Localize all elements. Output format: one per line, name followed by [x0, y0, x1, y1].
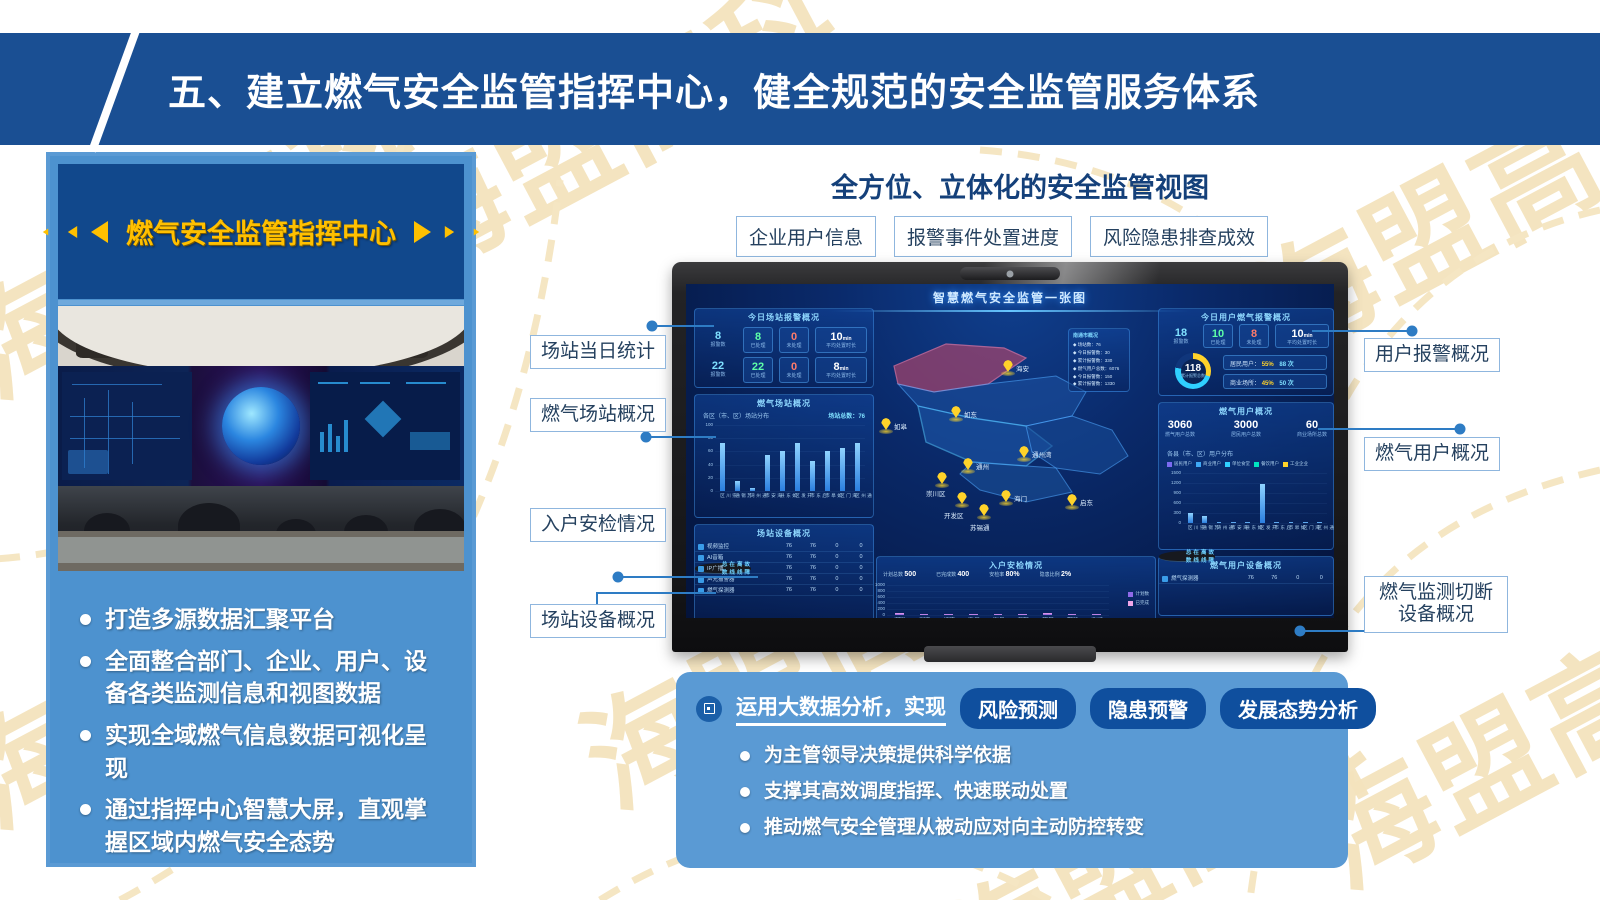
- bullet-dot-icon: [740, 823, 750, 833]
- table-cell: 视频监控: [695, 542, 777, 550]
- tag-enterprise-user-info[interactable]: 企业用户信息: [736, 216, 876, 257]
- chart-bar: [1317, 522, 1322, 523]
- table-cell: 76: [777, 576, 801, 582]
- tag-risk-inspection[interactable]: 风险隐患排查成效: [1090, 216, 1268, 257]
- breakdown-count: 88 次: [1279, 362, 1293, 368]
- gridline: [1183, 473, 1327, 474]
- panel-user-overview: 燃气用户概况 3060燃气用户总数3000居民用户总数60商业场所总数 各县（市…: [1158, 402, 1334, 550]
- list-item: 打造多源数据汇聚平台: [80, 603, 448, 636]
- panel-title: 今日用户燃气报警概况: [1159, 312, 1333, 323]
- kpi-label: 报警数: [701, 372, 735, 379]
- bigdata-bullets: 为主管领导决策提供科学依据 支撑其高效调度指挥、快速联动处置 推动燃气安全管理从…: [696, 743, 1328, 842]
- panel-user-device: 燃气用户设备概况 总数在线离线故障燃气探测器767600: [1158, 556, 1334, 616]
- legend-item: 居民用户: [1167, 461, 1192, 467]
- breakdown-pct: 45%: [1262, 381, 1274, 387]
- stat-label: 计划总数: [883, 572, 903, 578]
- table-cell: 0: [1286, 575, 1310, 581]
- photo-operator-desks: [58, 486, 464, 571]
- bullet-dot-icon: [80, 656, 91, 667]
- gridline: [715, 438, 865, 439]
- command-center-card: 燃气安全监管指挥中心: [46, 152, 476, 867]
- kpi-value: 22: [701, 360, 735, 372]
- panel-map-info: 南通市概况 ◆ 场站数：76◆ 今日报警数：30◆ 累计报警数：330◆ 燃气用…: [1068, 328, 1130, 392]
- chart-bar: [720, 443, 725, 491]
- axis-category-label: 通州区: [988, 617, 1008, 618]
- tag-alarm-progress[interactable]: 报警事件处置进度: [894, 216, 1072, 257]
- list-item: 通过指挥中心智慧大屏，直观掌握区域内燃气安全态势: [80, 793, 448, 858]
- map-info-row: ◆ 燃气用户总数：6076: [1073, 365, 1119, 373]
- triangle-right-icon: [445, 225, 454, 237]
- axis-category-label: 海门区: [1013, 617, 1033, 618]
- stat-value: 3000: [1231, 419, 1261, 431]
- axis-tick: 800: [871, 588, 885, 593]
- chart-legend: 居民用户商业用户单位食堂餐饮用户工业企业: [1167, 461, 1308, 467]
- chart-bar: [944, 614, 952, 615]
- kpi-value: 8: [1240, 328, 1268, 340]
- chart-bar: [1217, 522, 1222, 523]
- legend-label: 商业用户: [1203, 461, 1221, 467]
- wall-data-screen: [310, 372, 460, 480]
- triangle-right-icon: [414, 221, 431, 243]
- table-row: 燃气探测器767600: [1159, 573, 1333, 584]
- axis-category-label: 如皋市: [939, 617, 959, 618]
- list-item: 实现全域燃气信息数据可视化呈现: [80, 719, 448, 784]
- kpi-unit: min: [1304, 333, 1313, 339]
- bullet-dot-icon: [80, 614, 91, 625]
- table-cell: 0: [849, 565, 873, 571]
- table-cell: 0: [849, 587, 873, 593]
- legend-swatch: [1128, 601, 1133, 606]
- axis-tick: 1500: [1167, 470, 1181, 475]
- donut-total-alarms: 118 累计报警总数: [1175, 353, 1211, 389]
- chart-bar: [765, 455, 770, 491]
- gridline: [887, 585, 1109, 586]
- table-cell: 76: [777, 565, 801, 571]
- bullet-text: 全面整合部门、企业、用户、设备各类监测信息和视图数据: [105, 645, 448, 710]
- stat-item: 已完成数 400: [936, 571, 969, 578]
- dashboard-title: 智慧燃气安全监管一张图: [686, 289, 1334, 306]
- panel-title: 燃气场站概况: [695, 398, 873, 409]
- stat-item: 3060燃气用户总数: [1165, 419, 1195, 438]
- axis-tick: 600: [871, 594, 885, 599]
- axis-tick: 1200: [1167, 480, 1181, 485]
- kpi-label: 未处理: [780, 373, 808, 380]
- photo-front-counter: [58, 531, 464, 571]
- map-info-row: ◆ 今日报警数：150: [1073, 373, 1119, 381]
- table-cell: 76: [801, 543, 825, 549]
- axis-tick: 600: [1167, 500, 1181, 505]
- axis-category-label: 开发区: [1037, 617, 1057, 618]
- chart-bar: [1231, 522, 1236, 523]
- chart-bar: [825, 451, 830, 491]
- user-stat-row: 3060燃气用户总数3000居民用户总数60商业场所总数: [1165, 419, 1327, 438]
- axis-tick: 900: [1167, 490, 1181, 495]
- legend-item: 商业用户: [1196, 461, 1221, 467]
- table-station-devices: 总数在线离线故障视频监控767600AI音箱767600IP广播767600声光…: [695, 541, 873, 596]
- panel-title: 燃气用户概况: [1159, 406, 1333, 417]
- axis-tick: 40: [699, 462, 713, 467]
- table-cell: 76: [801, 587, 825, 593]
- section-title: 全方位、立体化的安全监管视图: [790, 166, 1250, 205]
- chart-bar: [1068, 614, 1076, 615]
- table-cell: 0: [825, 565, 849, 571]
- stat-value: 500: [904, 571, 916, 578]
- chart-bar: [780, 451, 785, 491]
- breakdown-pct: 55%: [1262, 362, 1274, 368]
- breakdown-label: 居民用户：: [1230, 362, 1260, 368]
- axis-tick: 400: [871, 600, 885, 605]
- kpi-label: 未处理: [780, 343, 808, 350]
- chart-bar: [895, 613, 903, 615]
- device-icon: [698, 566, 704, 572]
- kpi-value: 8: [744, 331, 772, 343]
- kpi-value: 10: [1204, 328, 1232, 340]
- bullet-text: 实现全域燃气信息数据可视化呈现: [105, 719, 448, 784]
- axis-category-label: 通州湾: [1087, 617, 1107, 618]
- table-cell: 0: [849, 543, 873, 549]
- table-cell: 76: [777, 587, 801, 593]
- gridline: [715, 425, 865, 426]
- kpi-label: 平均处置时长: [1276, 340, 1328, 347]
- stat-value: 400: [958, 571, 970, 578]
- axis-tick: 0: [699, 488, 713, 493]
- chart-bar: [750, 488, 755, 491]
- axis-tick: 60: [699, 448, 713, 453]
- monitor-bezel: 智慧燃气安全监管一张图 今日场站报警概况 8 报警数 8 已处理 0 未处理 1…: [672, 262, 1348, 652]
- panel-title: 今日场站报警概况: [695, 312, 873, 323]
- panel-station-device: 场站设备概况 总数在线离线故障视频监控767600AI音箱767600IP广播7…: [694, 524, 874, 618]
- bullet-dot-icon: [80, 804, 91, 815]
- stat-label: 隐患比例: [1040, 572, 1060, 578]
- axis-category-label: 启东市: [914, 617, 934, 618]
- axis-category-label: 崇川区: [963, 617, 983, 618]
- kpi-value: 0: [780, 361, 808, 373]
- table-cell: 0: [825, 576, 849, 582]
- donut-label: 累计报警总数: [1181, 374, 1205, 378]
- gridline: [1183, 523, 1327, 524]
- bullet-dot-icon: [740, 787, 750, 797]
- legend-swatch: [1167, 462, 1172, 467]
- callout-gas-station-overview[interactable]: 燃气场站概况: [530, 398, 666, 432]
- callout-inhouse-inspection[interactable]: 入户安检情况: [530, 508, 666, 542]
- bullet-text: 推动燃气安全管理从被动应对向主动防控转变: [764, 815, 1144, 842]
- triangle-left-icon: [91, 221, 108, 243]
- kpi-label: 报警数: [1165, 339, 1197, 346]
- map-info-list: ◆ 场站数：76◆ 今日报警数：30◆ 累计报警数：330◆ 燃气用户总数：60…: [1073, 341, 1119, 388]
- monitor-stand: [924, 646, 1096, 662]
- kpi-value: 22: [744, 361, 772, 373]
- map-info-title: 南通市概况: [1073, 332, 1098, 339]
- legend-label: 餐饮用户: [1261, 461, 1279, 467]
- axis-tick: 0: [871, 612, 885, 617]
- gridline: [715, 491, 865, 492]
- photo-video-wall: [58, 366, 464, 486]
- kpi-value: 10: [830, 331, 842, 343]
- list-item: 推动燃气安全管理从被动应对向主动防控转变: [740, 815, 1328, 842]
- kpi-value: 18: [1165, 327, 1197, 339]
- chart-bar: [1303, 522, 1308, 523]
- pill-trend-analysis[interactable]: 发展态势分析: [1220, 688, 1376, 729]
- legend-label: 居民用户: [1174, 461, 1192, 467]
- legend-label: 单位食堂: [1232, 461, 1250, 467]
- axis-tick: 200: [871, 606, 885, 611]
- table-cell: 76: [801, 576, 825, 582]
- chart-bar: [795, 443, 800, 491]
- axis-tick: 20: [699, 475, 713, 480]
- breakdown-label: 商业场所：: [1230, 381, 1260, 387]
- legend-swatch: [1128, 592, 1133, 597]
- device-icon: [1162, 576, 1168, 582]
- panel-title: 场站设备概况: [695, 528, 873, 539]
- chart-bar: [855, 443, 860, 491]
- kpi-unit: min: [843, 336, 852, 342]
- table-header-row: 总数在线离线故障: [1159, 551, 1215, 562]
- kpi-label: 已处理: [744, 343, 772, 350]
- stat-item: 安检率 80%: [989, 571, 1019, 578]
- map-info-row: ◆ 今日报警数：30: [1073, 349, 1119, 357]
- station-total-value: 76: [858, 414, 865, 420]
- chart-bar: [920, 614, 928, 615]
- chart-bar: [1274, 522, 1279, 523]
- dashboard-screen: 智慧燃气安全监管一张图 今日场站报警概况 8 报警数 8 已处理 0 未处理 1…: [686, 284, 1334, 618]
- chip-icon: [696, 696, 722, 722]
- chart-bar: [1245, 522, 1250, 523]
- chart-bar: [810, 461, 815, 491]
- table-cell: 76: [777, 543, 801, 549]
- device-icon: [698, 555, 704, 561]
- list-item: 为主管领导决策提供科学依据: [740, 743, 1328, 770]
- table-cell: AI音箱: [695, 553, 777, 561]
- table-cell: 燃气探测器: [1159, 574, 1239, 582]
- kpi-value: 8: [701, 330, 735, 342]
- kpi-value: 0: [780, 331, 808, 343]
- chart-bar: [1018, 614, 1026, 615]
- legend-label: 已完成: [1136, 600, 1150, 606]
- stat-label: 安检率: [989, 572, 1004, 578]
- bigdata-lead-text: 运用大数据分析，实现: [736, 691, 946, 726]
- stat-label: 燃气用户总数: [1165, 431, 1195, 438]
- legend-item: 餐饮用户: [1254, 461, 1279, 467]
- chart-bar: [969, 614, 977, 615]
- stat-item: 3000居民用户总数: [1231, 419, 1261, 438]
- stat-item: 计划总数 500: [883, 571, 916, 578]
- table-cell: 76: [1263, 575, 1287, 581]
- pill-risk-prediction[interactable]: 风险预测: [960, 688, 1076, 729]
- kpi-label: 已处理: [1204, 340, 1232, 347]
- pill-hazard-warning[interactable]: 隐患预警: [1090, 688, 1206, 729]
- table-row: 燃气探测器767600: [695, 585, 873, 596]
- chart-bar: [1043, 613, 1051, 615]
- panel-station-overview: 燃气场站概况 各区（市、区）场站分布 场站总数：76 020406080100崇…: [694, 394, 874, 518]
- kpi-unit: min: [840, 366, 849, 372]
- table-cell: 0: [825, 543, 849, 549]
- table-header-cell: 故障: [1208, 548, 1216, 564]
- breakdown-count: 50 次: [1279, 381, 1293, 387]
- callout-user-alarm-overview[interactable]: 用户报警概况: [1364, 338, 1500, 372]
- table-cell: 0: [1310, 575, 1334, 581]
- panel-title: 入户安检情况: [877, 560, 1155, 571]
- panel-subtitle: 各区（市、区）场站分布: [703, 411, 769, 420]
- legend-label: 计划数: [1136, 591, 1150, 597]
- table-cell: 76: [801, 554, 825, 560]
- stat-label: 居民用户总数: [1231, 431, 1261, 438]
- gridline: [887, 591, 1109, 592]
- table-row: 视频监控767600: [695, 541, 873, 552]
- bullet-text: 为主管领导决策提供科学依据: [764, 743, 1011, 770]
- legend-swatch: [1225, 462, 1230, 467]
- gridline: [887, 615, 1109, 616]
- chart-bar: [994, 614, 1002, 615]
- chart-bar: [1289, 522, 1294, 523]
- slide-header-bar: 五、建立燃气安全监管指挥中心，健全规范的安全监管服务体系: [0, 33, 1600, 145]
- gridline: [1183, 513, 1327, 514]
- gridline: [887, 597, 1109, 598]
- device-icon: [698, 544, 704, 550]
- gridline: [1183, 493, 1327, 494]
- stat-value: 3060: [1165, 419, 1195, 431]
- chart-bar: [1188, 513, 1193, 523]
- table-header-cell: 总数: [1185, 548, 1193, 564]
- triangle-left-icon: [43, 228, 48, 235]
- bullet-dot-icon: [80, 730, 91, 741]
- bullet-text: 通过指挥中心智慧大屏，直观掌握区域内燃气安全态势: [105, 793, 448, 858]
- panel-inhouse-inspection: 入户安检情况 计划总数 500已完成数 400安检率 80%隐患比例 2% 02…: [876, 556, 1156, 618]
- inhouse-stat-row: 计划总数 500已完成数 400安检率 80%隐患比例 2%: [883, 571, 1071, 578]
- legend-swatch: [1254, 462, 1259, 467]
- bigdata-header-row: 运用大数据分析，实现 风险预测 隐患预警 发展态势分析: [696, 688, 1328, 729]
- chart-bar: [735, 481, 740, 491]
- stat-item: 隐患比例 2%: [1040, 571, 1072, 578]
- gridline: [1183, 503, 1327, 504]
- axis-tick: 300: [1167, 510, 1181, 515]
- callout-station-device-overview[interactable]: 场站设备概况: [530, 604, 666, 638]
- axis-tick: 100: [699, 422, 713, 427]
- gridline: [1183, 483, 1327, 484]
- axis-category-label: 通州区: [1317, 525, 1334, 529]
- list-item: 全面整合部门、企业、用户、设备各类监测信息和视图数据: [80, 645, 448, 710]
- tag-row: 企业用户信息 报警事件处置进度 风险隐患排查成效: [736, 216, 1268, 257]
- command-center-title: 燃气安全监管指挥中心: [118, 212, 404, 251]
- chart-user-distribution: 030060090012001500崇川区苏锡通通州湾海安市如东县开发区启东市如…: [1183, 473, 1327, 523]
- table-cell: 0: [849, 554, 873, 560]
- table-cell: 76: [777, 554, 801, 560]
- triangle-left-icon: [68, 225, 77, 237]
- table-cell: 0: [849, 576, 873, 582]
- kpi-label: 已处理: [744, 373, 772, 380]
- kpi-value: 10: [1291, 328, 1303, 340]
- bullet-dot-icon: [740, 751, 750, 761]
- axis-category-label: 苏锡通: [1062, 617, 1082, 618]
- command-center-bullets: 打造多源数据汇聚平台 全面整合部门、企业、用户、设备各类监测信息和视图数据 实现…: [58, 581, 464, 855]
- axis-tick: 1000: [871, 582, 885, 587]
- stat-label: 已完成数: [936, 572, 956, 578]
- axis-category-label: 海安县: [889, 617, 909, 618]
- page-title: 五、建立燃气安全监管指挥中心，健全规范的安全监管服务体系: [168, 62, 1260, 117]
- table-cell: 76: [801, 565, 825, 571]
- table-cell: 76: [1239, 575, 1263, 581]
- bigdata-panel: 运用大数据分析，实现 风险预测 隐患预警 发展态势分析 为主管领导决策提供科学依…: [676, 672, 1348, 868]
- stat-value: 2%: [1061, 571, 1071, 578]
- map-info-row: ◆ 场站数：76: [1073, 341, 1119, 349]
- bullet-text: 支撑其高效调度指挥、快速联动处置: [764, 779, 1068, 806]
- chart-legend: 计划数已完成: [1128, 591, 1150, 606]
- table-cell: 0: [825, 554, 849, 560]
- stat-value: 80%: [1006, 571, 1020, 578]
- panel-user-alarm: 今日用户燃气报警概况 18 报警数 10 已处理 8 未处理 10min 平均处…: [1158, 308, 1334, 396]
- callout-station-daily-stats[interactable]: 场站当日统计: [530, 335, 666, 369]
- command-center-photo: [58, 306, 464, 571]
- list-item: 支撑其高效调度指挥、快速联动处置: [740, 779, 1328, 806]
- legend-item: 工业企业: [1283, 461, 1308, 467]
- map-info-row: ◆ 累计报警数：1330: [1073, 380, 1119, 388]
- legend-swatch: [1283, 462, 1288, 467]
- table-header-cell: 离线: [1200, 548, 1208, 564]
- chart-station-distribution: 020406080100崇川区苏锡通通州湾海安市如东县开发区启东市如皋市海门区通…: [715, 425, 865, 491]
- wall-map-screen: [62, 372, 192, 480]
- table-user-devices: 总数在线离线故障燃气探测器767600: [1159, 573, 1333, 584]
- chart-bar: [1092, 614, 1100, 615]
- stat-label: 商业场所总数: [1297, 431, 1327, 438]
- command-center-title-bar: 燃气安全监管指挥中心: [58, 164, 464, 299]
- kpi-label: 未处理: [1240, 340, 1268, 347]
- table-cell: 0: [825, 587, 849, 593]
- kpi-label: 平均处置时长: [816, 373, 866, 380]
- chart-bar: [840, 448, 845, 491]
- panel-subtitle: 各县（市、区）用户分布: [1167, 449, 1233, 458]
- panel-station-alarm: 今日场站报警概况 8 报警数 8 已处理 0 未处理 10min 平均处置时长 …: [694, 308, 874, 388]
- kpi-label: 报警数: [701, 342, 735, 349]
- chart-bar: [1260, 484, 1265, 523]
- header-slash-decoration: [88, 29, 139, 152]
- station-total-label: 场站总数：: [828, 414, 858, 420]
- table-cell: IP广播: [695, 564, 777, 572]
- legend-item: 计划数: [1128, 591, 1150, 597]
- callout-gas-user-overview[interactable]: 燃气用户概况: [1364, 437, 1500, 471]
- legend-swatch: [1196, 462, 1201, 467]
- legend-item: 单位食堂: [1225, 461, 1250, 467]
- axis-category-label: 通州区: [855, 493, 873, 497]
- axis-tick: 0: [1167, 520, 1181, 525]
- chart-bar: [1202, 516, 1207, 523]
- bullet-text: 打造多源数据汇聚平台: [105, 603, 335, 636]
- kpi-label: 平均处置时长: [816, 343, 866, 350]
- webcam-icon: [960, 267, 1060, 280]
- gridline: [887, 609, 1109, 610]
- chart-inhouse-distribution: 02004006008001000海安县启东市如皋市崇川区通州区海门区开发区苏锡…: [887, 585, 1109, 615]
- legend-item: 已完成: [1128, 600, 1150, 606]
- legend-label: 工业企业: [1290, 461, 1308, 467]
- photo-ceiling: [58, 306, 464, 366]
- map-info-row: ◆ 累计报警数：330: [1073, 357, 1119, 365]
- callout-cutoff-device-overview[interactable]: 燃气监测切断设备概况: [1364, 576, 1508, 633]
- wall-globe-graphic: [222, 387, 300, 465]
- triangle-right-icon: [474, 228, 479, 235]
- gridline: [887, 603, 1109, 604]
- table-header-cell: 在线: [1192, 548, 1200, 564]
